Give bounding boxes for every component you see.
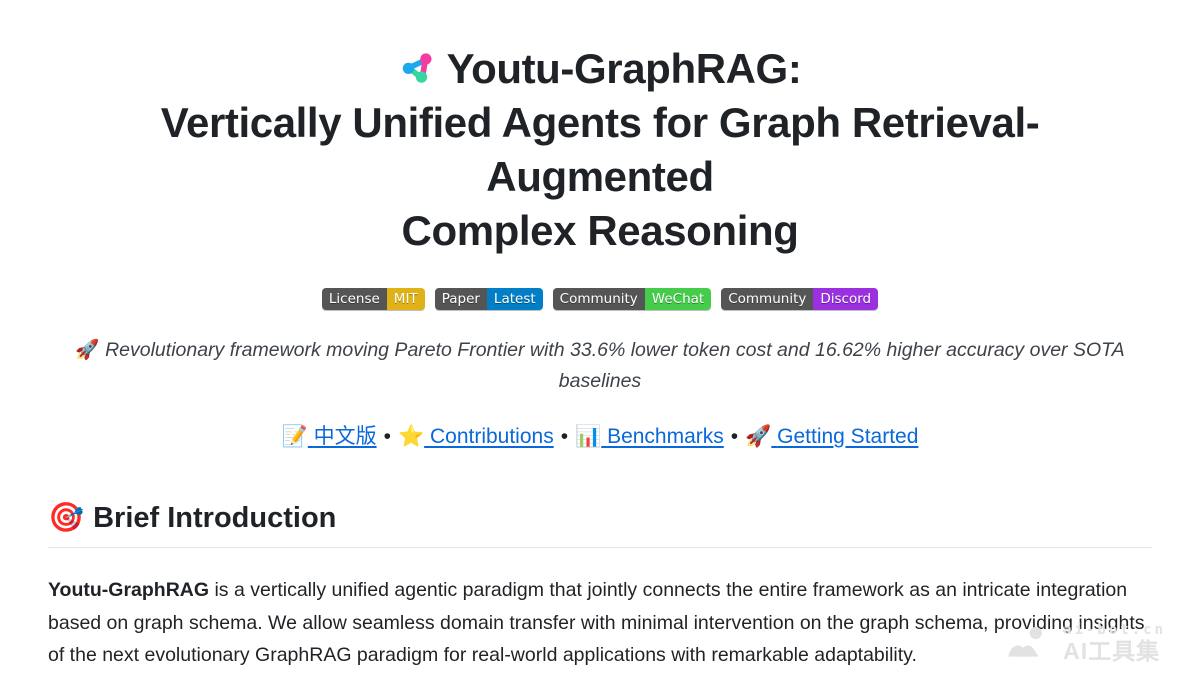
bar-chart-emoji: 📊 xyxy=(575,421,601,451)
badge-community-discord[interactable]: CommunityDiscord xyxy=(721,288,878,310)
readme-page: Youtu-GraphRAG: Vertically Unified Agent… xyxy=(0,0,1200,675)
link-contributions[interactable]: ⭐ Contributions xyxy=(398,425,554,448)
badge-community-wechat-label: Community xyxy=(553,288,645,310)
link-getting-started-label: Getting Started xyxy=(777,425,918,448)
memo-emoji: 📝 xyxy=(282,421,308,451)
badge-community-wechat[interactable]: CommunityWeChat xyxy=(553,288,712,310)
section-heading-label: Brief Introduction xyxy=(93,502,336,534)
badge-row: LicenseMIT PaperLatest CommunityWeChat C… xyxy=(48,288,1152,310)
tagline-text: Revolutionary framework moving Pareto Fr… xyxy=(105,339,1125,392)
nav-separator-1: • xyxy=(384,425,391,448)
intro-paragraph: Youtu-GraphRAG is a vertically unified a… xyxy=(48,574,1148,672)
link-benchmarks-label: Benchmarks xyxy=(607,425,724,448)
title-block: Youtu-GraphRAG: Vertically Unified Agent… xyxy=(48,0,1152,258)
star-emoji: ⭐ xyxy=(398,421,424,451)
badge-paper-latest-value: Latest xyxy=(487,288,543,310)
rocket-emoji: 🚀 xyxy=(75,338,99,361)
link-benchmarks[interactable]: 📊 Benchmarks xyxy=(575,425,724,448)
quick-links-row: 📝 中文版•⭐ Contributions•📊 Benchmarks•🚀 Get… xyxy=(48,421,1152,452)
badge-license-mit-label: License xyxy=(322,288,387,310)
intro-paragraph-text: is a vertically unified agentic paradigm… xyxy=(48,579,1145,666)
badge-paper-latest-label: Paper xyxy=(435,288,487,310)
page-title-line-3: Complex Reasoning xyxy=(48,204,1152,258)
badge-license-mit-value: MIT xyxy=(387,288,425,310)
intro-paragraph-lead: Youtu-GraphRAG xyxy=(48,579,209,601)
tagline: 🚀 Revolutionary framework moving Pareto … xyxy=(55,334,1145,397)
badge-community-wechat-value: WeChat xyxy=(645,288,711,310)
page-title-line-2: Vertically Unified Agents for Graph Retr… xyxy=(48,96,1152,204)
link-chinese-readme-label: 中文版 xyxy=(314,425,377,448)
link-contributions-label: Contributions xyxy=(430,425,554,448)
nav-separator-2: • xyxy=(561,425,568,448)
graph-network-logo-icon xyxy=(399,48,439,88)
page-title: Youtu-GraphRAG: xyxy=(48,42,1152,96)
link-getting-started[interactable]: 🚀 Getting Started xyxy=(745,425,918,448)
badge-paper-latest[interactable]: PaperLatest xyxy=(435,288,543,310)
rocket-emoji: 🚀 xyxy=(745,421,771,451)
nav-separator-3: • xyxy=(731,425,738,448)
link-chinese-readme[interactable]: 📝 中文版 xyxy=(282,425,377,448)
section-heading-brief-introduction: 🎯Brief Introduction xyxy=(48,498,1152,548)
direct-hit-emoji: 🎯 xyxy=(48,500,84,534)
page-title-line-1: Youtu-GraphRAG: xyxy=(447,45,802,92)
badge-community-discord-label: Community xyxy=(721,288,813,310)
badge-community-discord-value: Discord xyxy=(813,288,878,310)
badge-license-mit[interactable]: LicenseMIT xyxy=(322,288,425,310)
